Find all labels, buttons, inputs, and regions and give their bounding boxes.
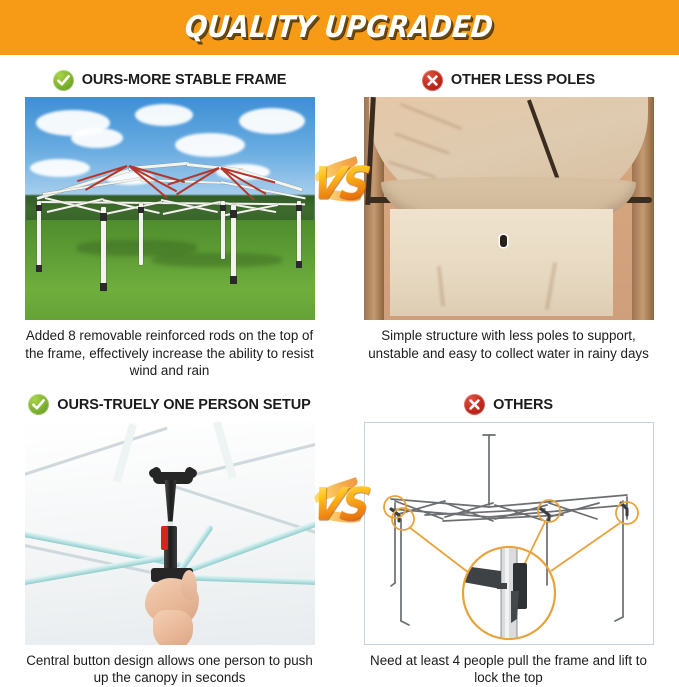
leg-foot xyxy=(230,276,237,284)
cell-heading: OTHER LESS POLES xyxy=(422,63,595,97)
leg-joint xyxy=(220,205,226,211)
leg-joint xyxy=(296,205,302,211)
frame-line-drawing xyxy=(365,423,654,645)
comparison-row-1: OURS-MORE STABLE FRAME xyxy=(0,55,679,380)
fabric-clip xyxy=(500,235,507,247)
check-circle-icon xyxy=(53,70,74,91)
x-circle-icon xyxy=(464,394,485,415)
leg-joint xyxy=(230,210,237,218)
thumb xyxy=(181,570,197,600)
comparison-cell-theirs-1: OTHER LESS POLES Simple str xyxy=(339,55,678,380)
check-circle-icon xyxy=(28,394,49,415)
x-circle-icon xyxy=(422,70,443,91)
page-title: QUALITY UPGRADED xyxy=(184,10,495,45)
leg-joint xyxy=(138,207,144,213)
canopy-sidewall xyxy=(390,209,613,316)
cell-title: OTHER LESS POLES xyxy=(451,72,595,88)
leg-joint xyxy=(36,205,42,211)
cell-title: OURS-MORE STABLE FRAME xyxy=(82,72,287,88)
cloud xyxy=(239,108,305,134)
cell-caption: Need at least 4 people pull the frame an… xyxy=(359,652,659,687)
comparison-cell-theirs-2: OTHERS xyxy=(339,380,678,687)
leg-foot xyxy=(100,283,107,291)
cell-heading: OTHERS xyxy=(464,388,553,422)
cell-heading: OURS-MORE STABLE FRAME xyxy=(53,63,287,97)
cell-caption: Simple structure with less poles to supp… xyxy=(359,327,659,362)
cell-title: OTHERS xyxy=(493,397,553,413)
diagram-frame-locking-callouts xyxy=(364,422,654,645)
ground-shadow xyxy=(152,253,282,267)
cloud xyxy=(135,104,193,126)
leg-foot xyxy=(296,261,302,268)
product-photo-sagging-canopy xyxy=(364,97,654,320)
leg-joint xyxy=(100,213,107,221)
cloud xyxy=(175,133,245,157)
comparison-grid: OURS-MORE STABLE FRAME xyxy=(0,55,679,687)
header-banner: QUALITY UPGRADED xyxy=(0,0,679,55)
comparison-cell-ours-2: OURS-TRUELY ONE PERSON SETUP xyxy=(0,380,339,687)
cell-caption: Added 8 removable reinforced rods on the… xyxy=(20,327,320,380)
cell-caption: Central button design allows one person … xyxy=(20,652,320,687)
grass-field xyxy=(25,220,315,320)
comparison-row-2: OURS-TRUELY ONE PERSON SETUP xyxy=(0,380,679,687)
cell-title: OURS-TRUELY ONE PERSON SETUP xyxy=(57,397,310,413)
wrist xyxy=(153,610,193,645)
product-photo-stable-frame xyxy=(25,97,315,320)
red-release-button xyxy=(161,526,168,550)
product-photo-one-person-setup xyxy=(25,422,315,645)
frame-leg xyxy=(37,201,41,271)
comparison-cell-ours-1: OURS-MORE STABLE FRAME xyxy=(0,55,339,380)
cell-heading: OURS-TRUELY ONE PERSON SETUP xyxy=(28,388,310,422)
leg-foot xyxy=(36,265,42,272)
